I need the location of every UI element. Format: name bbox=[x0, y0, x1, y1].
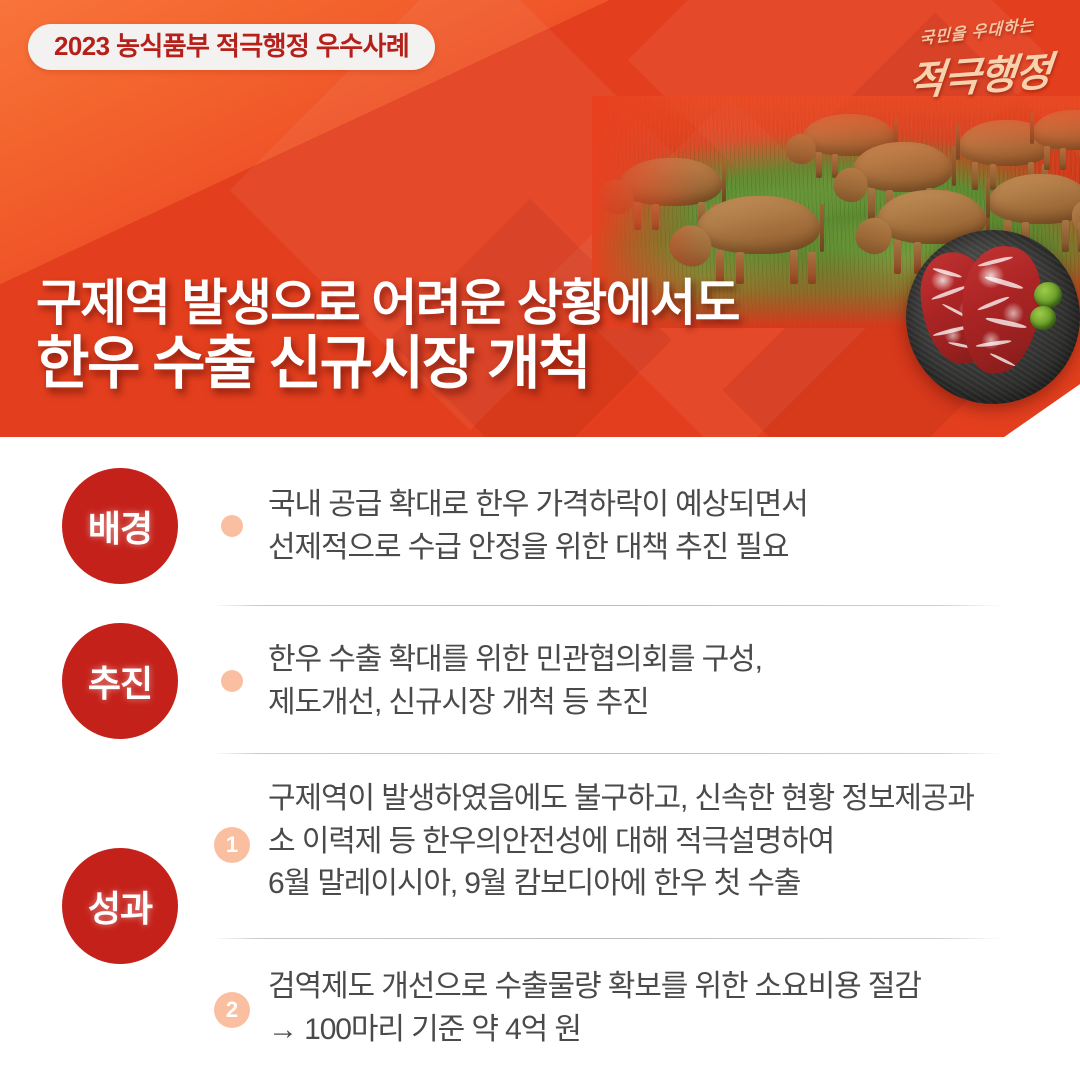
result-number-1: 1 bbox=[214, 827, 250, 863]
result-number-2: 2 bbox=[214, 992, 250, 1028]
parsley-garnish bbox=[1034, 282, 1062, 308]
bullet-icon bbox=[221, 515, 243, 537]
section-divider bbox=[212, 753, 1002, 754]
section-tag-initiative: 추진 bbox=[62, 623, 178, 739]
bullet-icon bbox=[221, 670, 243, 692]
page-title: 구제역 발생으로 어려운 상황에서도 한우 수출 신규시장 개척 bbox=[36, 276, 739, 396]
headline-line-1: 구제역 발생으로 어려운 상황에서도 bbox=[36, 276, 739, 331]
section-text-result-2: 검역제도 개선으로 수출물량 확보를 위한 소요비용 절감 → 100마리 기준… bbox=[268, 966, 921, 1051]
headline-line-2: 한우 수출 신규시장 개척 bbox=[36, 333, 739, 396]
logo-title: 적극행정 bbox=[902, 38, 1058, 107]
section-text-background: 국내 공급 확대로 한우 가격하락이 예상되면서 선제적으로 수급 안정을 위한… bbox=[268, 484, 808, 569]
section-tag-results: 성과 bbox=[62, 848, 178, 964]
content-body: 배경 국내 공급 확대로 한우 가격하락이 예상되면서 선제적으로 수급 안정을… bbox=[0, 444, 1080, 1080]
section-text-result-1: 구제역이 발생하였음에도 불구하고, 신속한 현황 정보제공과 소 이력제 등 … bbox=[268, 778, 974, 906]
hero-header: 2023 농식품부 적극행정 우수사례 국민을 우대하는 적극행정 구제역 발생… bbox=[0, 0, 1080, 444]
section-divider bbox=[212, 938, 1002, 939]
active-administration-logo: 국민을 우대하는 적극행정 bbox=[901, 13, 1056, 107]
section-divider bbox=[212, 605, 1002, 606]
award-badge: 2023 농식품부 적극행정 우수사례 bbox=[28, 24, 435, 70]
beef-plate bbox=[906, 230, 1080, 404]
infographic-card: 2023 농식품부 적극행정 우수사례 국민을 우대하는 적극행정 구제역 발생… bbox=[0, 0, 1080, 1080]
section-text-initiative: 한우 수출 확대를 위한 민관협의회를 구성, 제도개선, 신규시장 개척 등 … bbox=[268, 639, 762, 724]
parsley-garnish bbox=[1030, 306, 1056, 330]
section-tag-background: 배경 bbox=[62, 468, 178, 584]
